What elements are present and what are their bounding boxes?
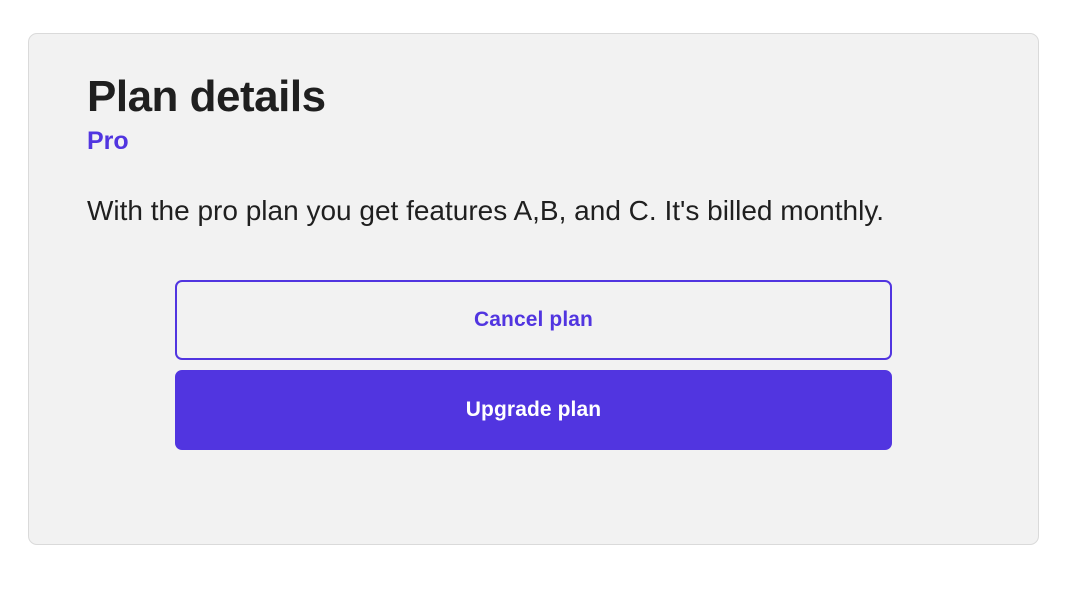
cancel-plan-button[interactable]: Cancel plan bbox=[175, 280, 892, 360]
plan-actions: Cancel plan Upgrade plan bbox=[87, 280, 980, 450]
plan-tier-label: Pro bbox=[87, 128, 980, 156]
plan-description: With the pro plan you get features A,B, … bbox=[87, 193, 980, 228]
plan-details-card-body: Plan details Pro With the pro plan you g… bbox=[29, 34, 1038, 450]
page-title: Plan details bbox=[87, 74, 980, 120]
upgrade-plan-button[interactable]: Upgrade plan bbox=[175, 370, 892, 450]
plan-details-card: Plan details Pro With the pro plan you g… bbox=[28, 33, 1039, 545]
